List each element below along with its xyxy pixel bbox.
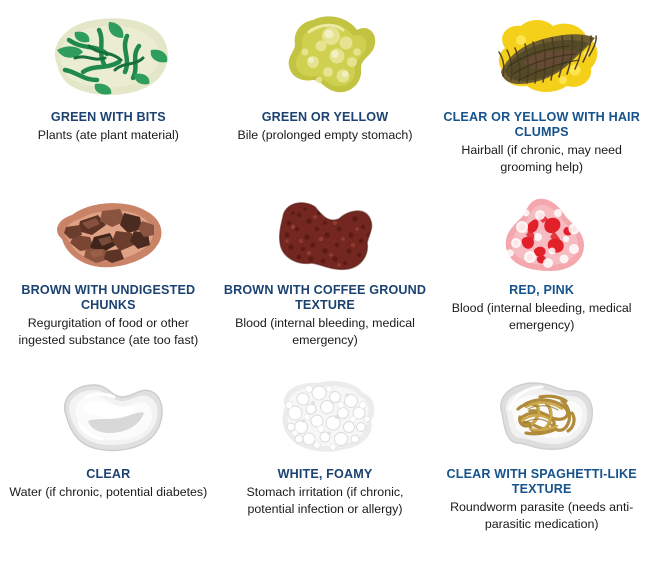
guide-item-title: BROWN WITH UNDIGESTED CHUNKS xyxy=(6,283,211,313)
guide-item-title: CLEAR xyxy=(86,467,130,482)
roundworm-parasite-illustration xyxy=(480,373,604,461)
guide-item-description: Bile (prolonged empty stomach) xyxy=(238,127,413,144)
guide-item-title: BROWN WITH COFFEE GROUND TEXTURE xyxy=(223,283,428,313)
white-foam-illustration xyxy=(263,373,387,461)
yellow-hairball-illustration xyxy=(475,8,609,104)
guide-item-green-with-bits: GREEN WITH BITS Plants (ate plant materi… xyxy=(0,8,217,193)
guide-item-green-or-yellow: GREEN OR YELLOW Bile (prolonged empty st… xyxy=(217,8,434,193)
guide-item-red-pink: RED, PINK Blood (internal bleeding, medi… xyxy=(433,193,650,373)
vomit-color-guide-infographic: GREEN WITH BITS Plants (ate plant materi… xyxy=(0,0,650,562)
guide-item-title: WHITE, FOAMY xyxy=(278,467,373,482)
guide-item-description: Blood (internal bleeding, medical emerge… xyxy=(439,300,644,333)
green-plant-vomit-illustration xyxy=(39,8,177,104)
guide-item-description: Blood (internal bleeding, medical emerge… xyxy=(223,315,428,348)
red-pink-blood-illustration xyxy=(486,193,598,277)
guide-item-description: Stomach irritation (if chronic, potentia… xyxy=(223,484,428,517)
guide-item-description: Water (if chronic, potential diabetes) xyxy=(9,484,207,501)
guide-item-description: Plants (ate plant material) xyxy=(38,127,179,144)
guide-item-title: CLEAR WITH SPAGHETTI-LIKE TEXTURE xyxy=(439,467,644,497)
guide-item-description: Hairball (if chronic, may need grooming … xyxy=(439,142,644,175)
guide-item-title: GREEN OR YELLOW xyxy=(262,110,389,125)
guide-item-clear-with-spaghetti-like-texture: CLEAR WITH SPAGHETTI-LIKE TEXTURE Roundw… xyxy=(433,373,650,570)
guide-item-title: GREEN WITH BITS xyxy=(51,110,166,125)
guide-item-description: Regurgitation of food or other ingested … xyxy=(6,315,211,348)
guide-item-white-foamy: WHITE, FOAMY Stomach irritation (if chro… xyxy=(217,373,434,570)
guide-item-clear-or-yellow-with-hair-clumps: CLEAR OR YELLOW WITH HAIR CLUMPS Hairbal… xyxy=(433,8,650,193)
guide-item-brown-with-undigested-chunks: BROWN WITH UNDIGESTED CHUNKS Regurgitati… xyxy=(0,193,217,373)
yellow-green-bile-illustration xyxy=(269,8,381,104)
guide-item-title: RED, PINK xyxy=(509,283,574,298)
clear-water-illustration xyxy=(46,373,170,461)
guide-item-description: Roundworm parasite (needs anti-parasitic… xyxy=(439,499,644,532)
guide-item-title: CLEAR OR YELLOW WITH HAIR CLUMPS xyxy=(439,110,644,140)
guide-item-brown-with-coffee-ground-texture: BROWN WITH COFFEE GROUND TEXTURE Blood (… xyxy=(217,193,434,373)
brown-food-chunks-illustration xyxy=(42,193,174,277)
coffee-ground-blood-illustration xyxy=(269,193,381,277)
guide-item-clear: CLEAR Water (if chronic, potential diabe… xyxy=(0,373,217,570)
